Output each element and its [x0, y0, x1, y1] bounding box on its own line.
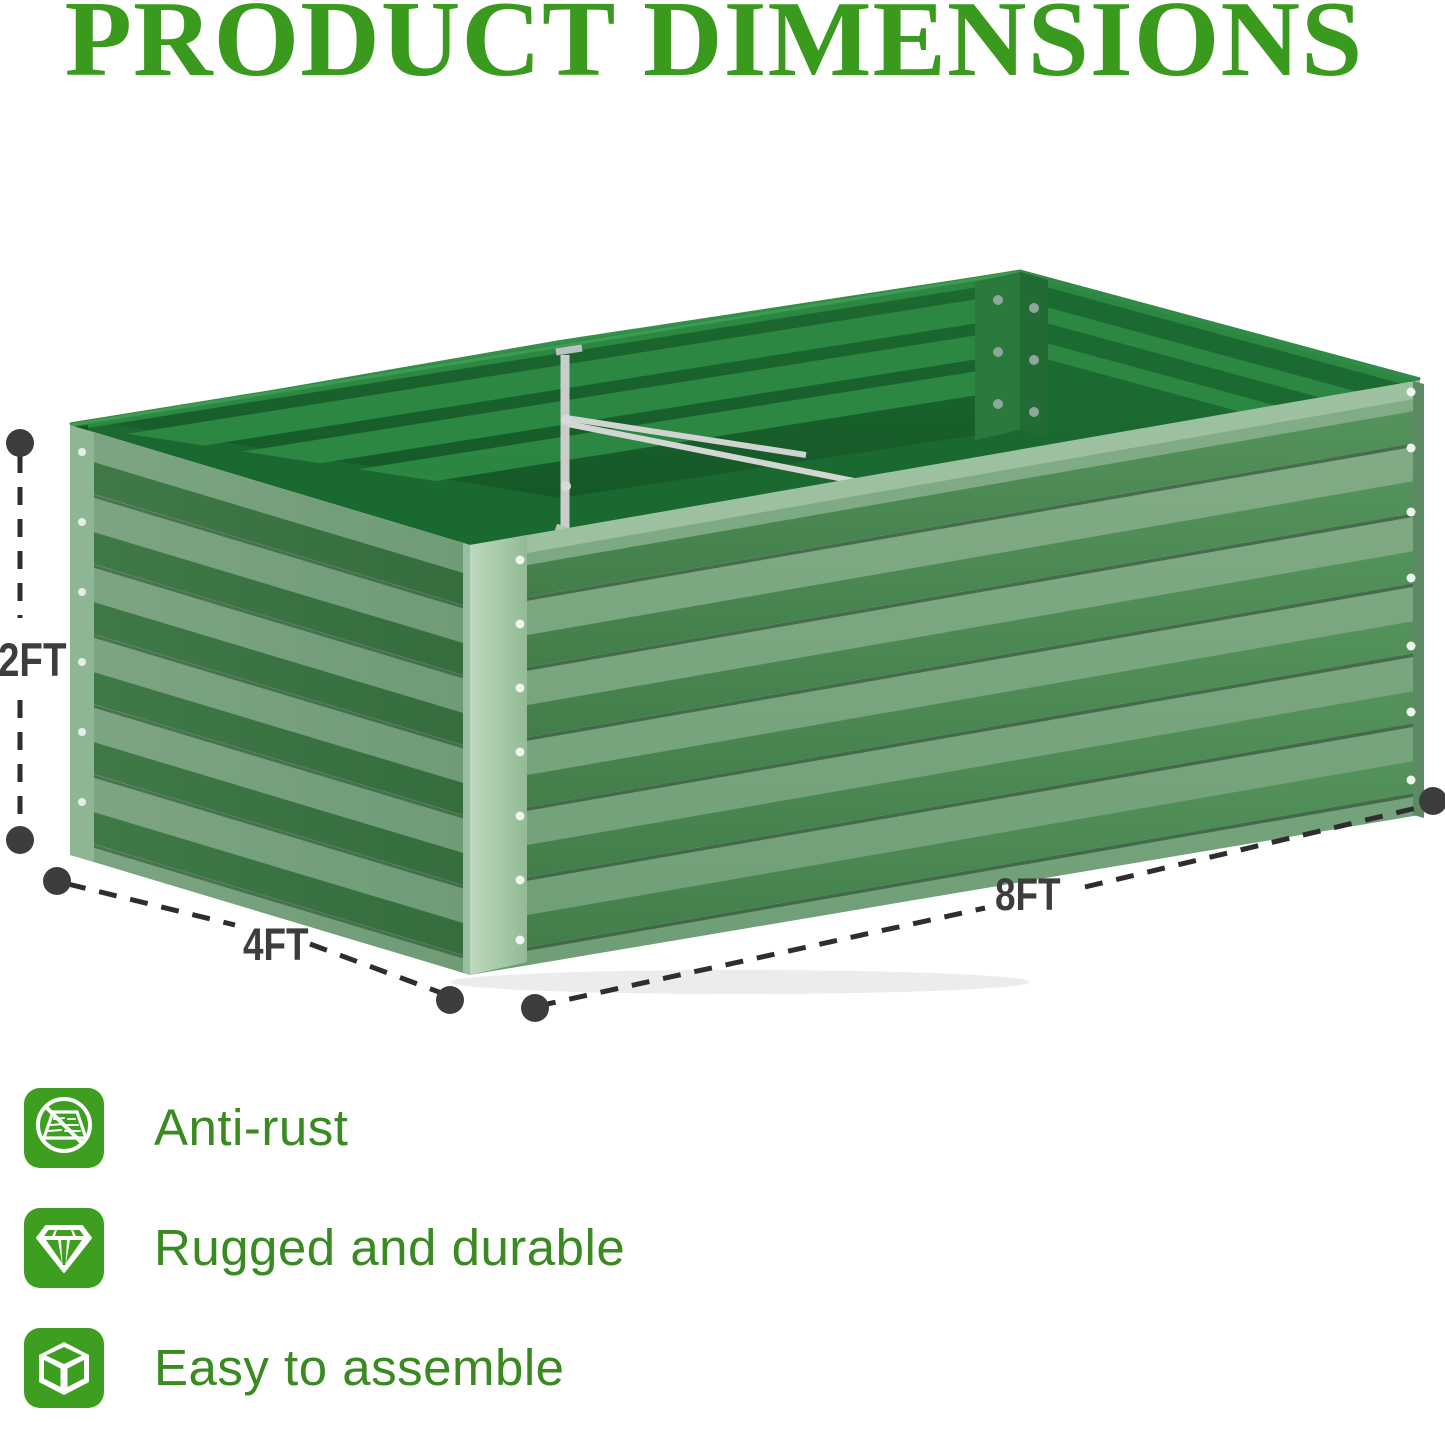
- dimension-label-depth: 4FT: [243, 919, 309, 971]
- diamond-icon: [24, 1208, 104, 1288]
- cube-box-icon: [24, 1328, 104, 1408]
- dimension-label-height: 2FT: [0, 632, 67, 687]
- feature-item-easy-assemble: Easy to assemble: [24, 1328, 924, 1448]
- rear-corner-post: [975, 272, 1048, 440]
- feature-label: Easy to assemble: [154, 1326, 565, 1410]
- feature-item-anti-rust: Anti-rust: [24, 1088, 924, 1208]
- product-illustration: [0, 0, 1445, 1060]
- dim-dot-depth-right: [436, 986, 464, 1014]
- feature-list: Anti-rust Rugged and durable: [24, 1088, 924, 1448]
- feature-label: Anti-rust: [154, 1086, 348, 1170]
- dim-dot-depth-left: [43, 867, 71, 895]
- dimension-label-width: 8FT: [995, 869, 1061, 921]
- dim-dot-bottom: [6, 826, 34, 854]
- anti-rust-icon: [24, 1088, 104, 1168]
- dim-dot-width-left: [521, 994, 549, 1022]
- front-corner-post: [463, 535, 527, 975]
- dim-dot-top: [6, 429, 34, 457]
- feature-label: Rugged and durable: [154, 1206, 625, 1290]
- feature-item-rugged: Rugged and durable: [24, 1208, 924, 1328]
